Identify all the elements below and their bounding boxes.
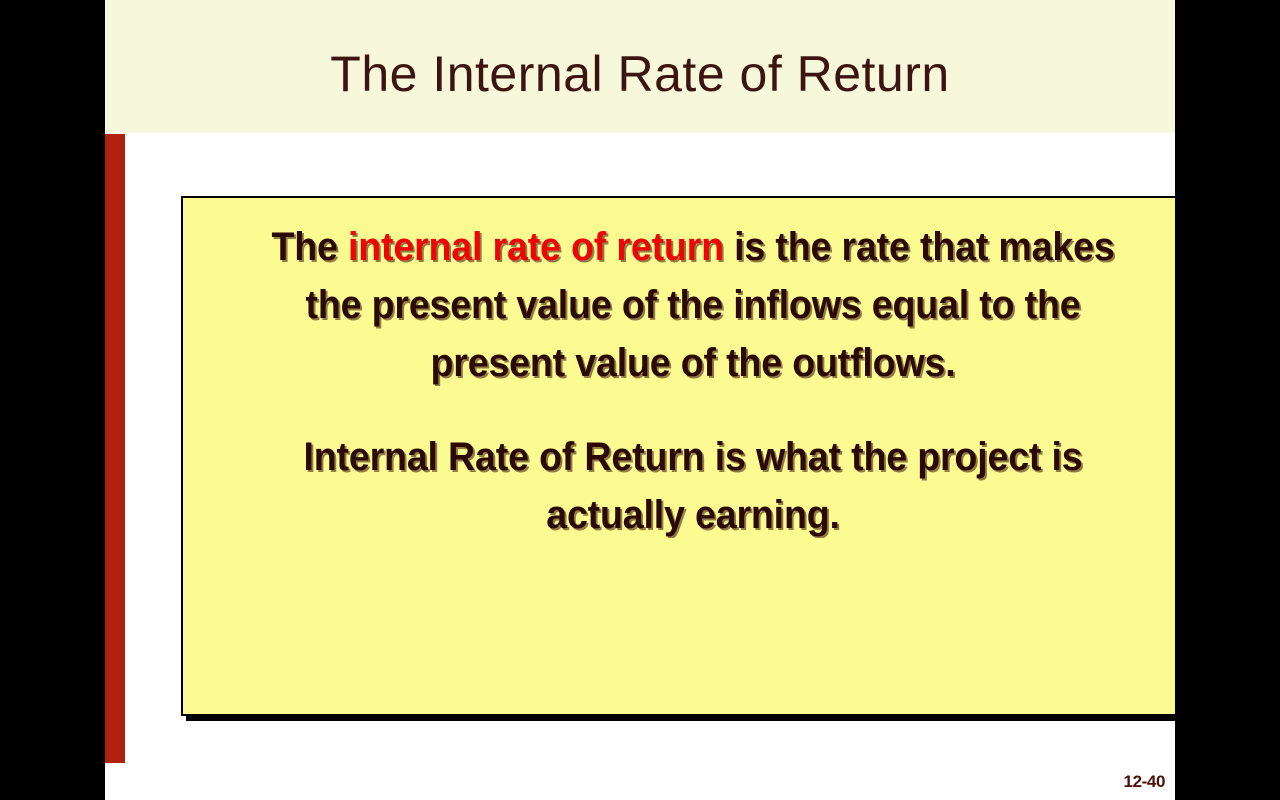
content-box: The internal rate of return is the rate …	[181, 196, 1175, 716]
slide-title: The Internal Rate of Return	[105, 0, 1175, 133]
body-paragraph-1: The internal rate of return is the rate …	[242, 218, 1144, 392]
highlighted-term: internal rate of return	[348, 225, 724, 269]
slide-number: 12-40	[1124, 772, 1165, 792]
presentation-screen: The Internal Rate of Return The internal…	[0, 0, 1280, 800]
body-paragraph-1-part-1: The	[271, 225, 348, 269]
left-accent-bar	[105, 134, 125, 763]
content-box-inner: The internal rate of return is the rate …	[213, 206, 1173, 544]
slide: The Internal Rate of Return The internal…	[105, 0, 1175, 800]
body-paragraph-2: Internal Rate of Return is what the proj…	[242, 428, 1144, 544]
slide-title-band: The Internal Rate of Return	[105, 0, 1175, 133]
